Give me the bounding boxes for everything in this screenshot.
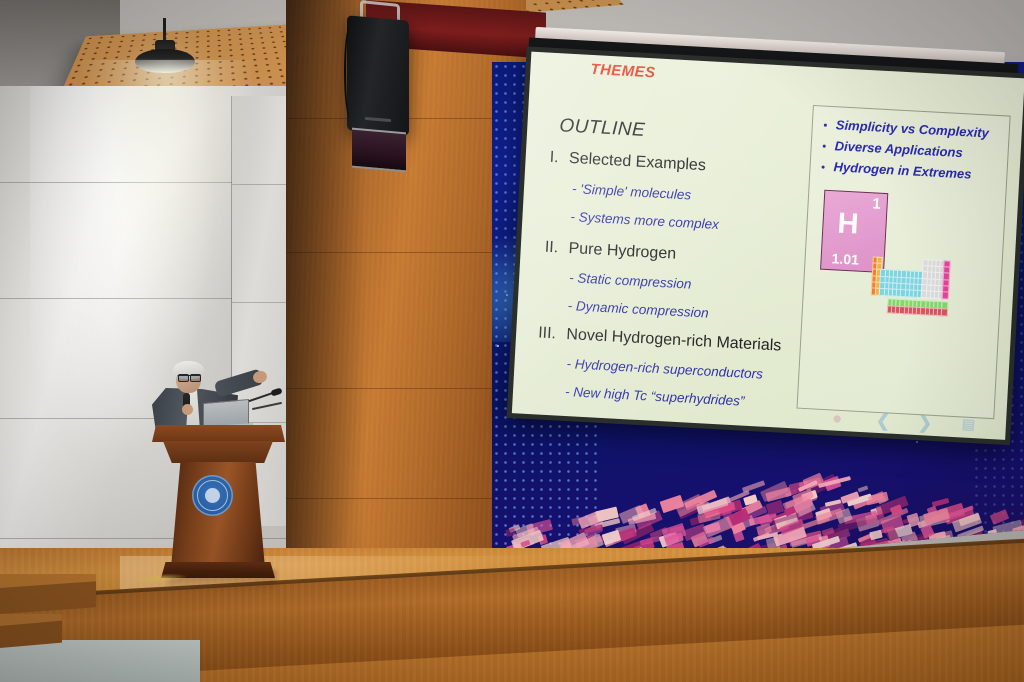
loudspeaker-base	[352, 128, 406, 173]
slide-options-icon[interactable]: ▤	[961, 415, 975, 433]
podium-lectern-top	[152, 425, 285, 442]
outline-bullet-1-2: - Systems more complex	[570, 209, 719, 232]
university-seal	[192, 475, 233, 516]
pendant-lamp-rod	[163, 18, 166, 42]
outline-section-2: II. Pure Hydrogen	[544, 239, 676, 264]
prev-slide-icon[interactable]: ❮	[875, 411, 890, 432]
projection-screen: OUTLINE I. Selected Examples - 'Simple' …	[498, 22, 1024, 461]
pen-icon[interactable]: ●	[831, 408, 842, 429]
pendant-lamp-shade	[135, 49, 195, 73]
lecture-hall-photo: NE OUTLINE I. Selected Examples - 'Simpl…	[0, 0, 1024, 682]
themes-title: THEMES	[590, 61, 656, 81]
speaker-mic-hand	[182, 404, 193, 415]
outline-bullet-3-2: - New high Tc “superhydrides”	[565, 384, 745, 409]
outline-bullet-2-1: - Static compression	[569, 270, 692, 292]
hydrogen-atomic-number: 1	[872, 195, 881, 212]
projected-slide: OUTLINE I. Selected Examples - 'Simple' …	[512, 52, 1024, 440]
hall-floor	[0, 640, 200, 682]
outline-section-1: I. Selected Examples	[549, 149, 706, 175]
hydrogen-atomic-mass: 1.01	[831, 250, 859, 267]
eyeglasses-right-lens	[190, 374, 201, 382]
mini-periodic-table	[868, 256, 997, 351]
outline-bullet-3-1: - Hydrogen-rich superconductors	[566, 356, 763, 382]
loudspeaker-cable	[344, 25, 356, 118]
outline-bullet-1-1: - 'Simple' molecules	[572, 181, 692, 202]
outline-bullet-2-2: - Dynamic compression	[567, 298, 709, 321]
eyeglasses-left-lens	[178, 374, 189, 382]
loudspeaker-cabinet	[347, 15, 409, 135]
next-slide-icon[interactable]: ❯	[917, 413, 932, 434]
slide-outline-title: OUTLINE	[559, 115, 646, 142]
hydrogen-symbol: H	[837, 209, 859, 239]
podium-neck	[163, 441, 273, 463]
outline-section-3: III. Novel Hydrogen-rich Materials	[538, 324, 782, 355]
